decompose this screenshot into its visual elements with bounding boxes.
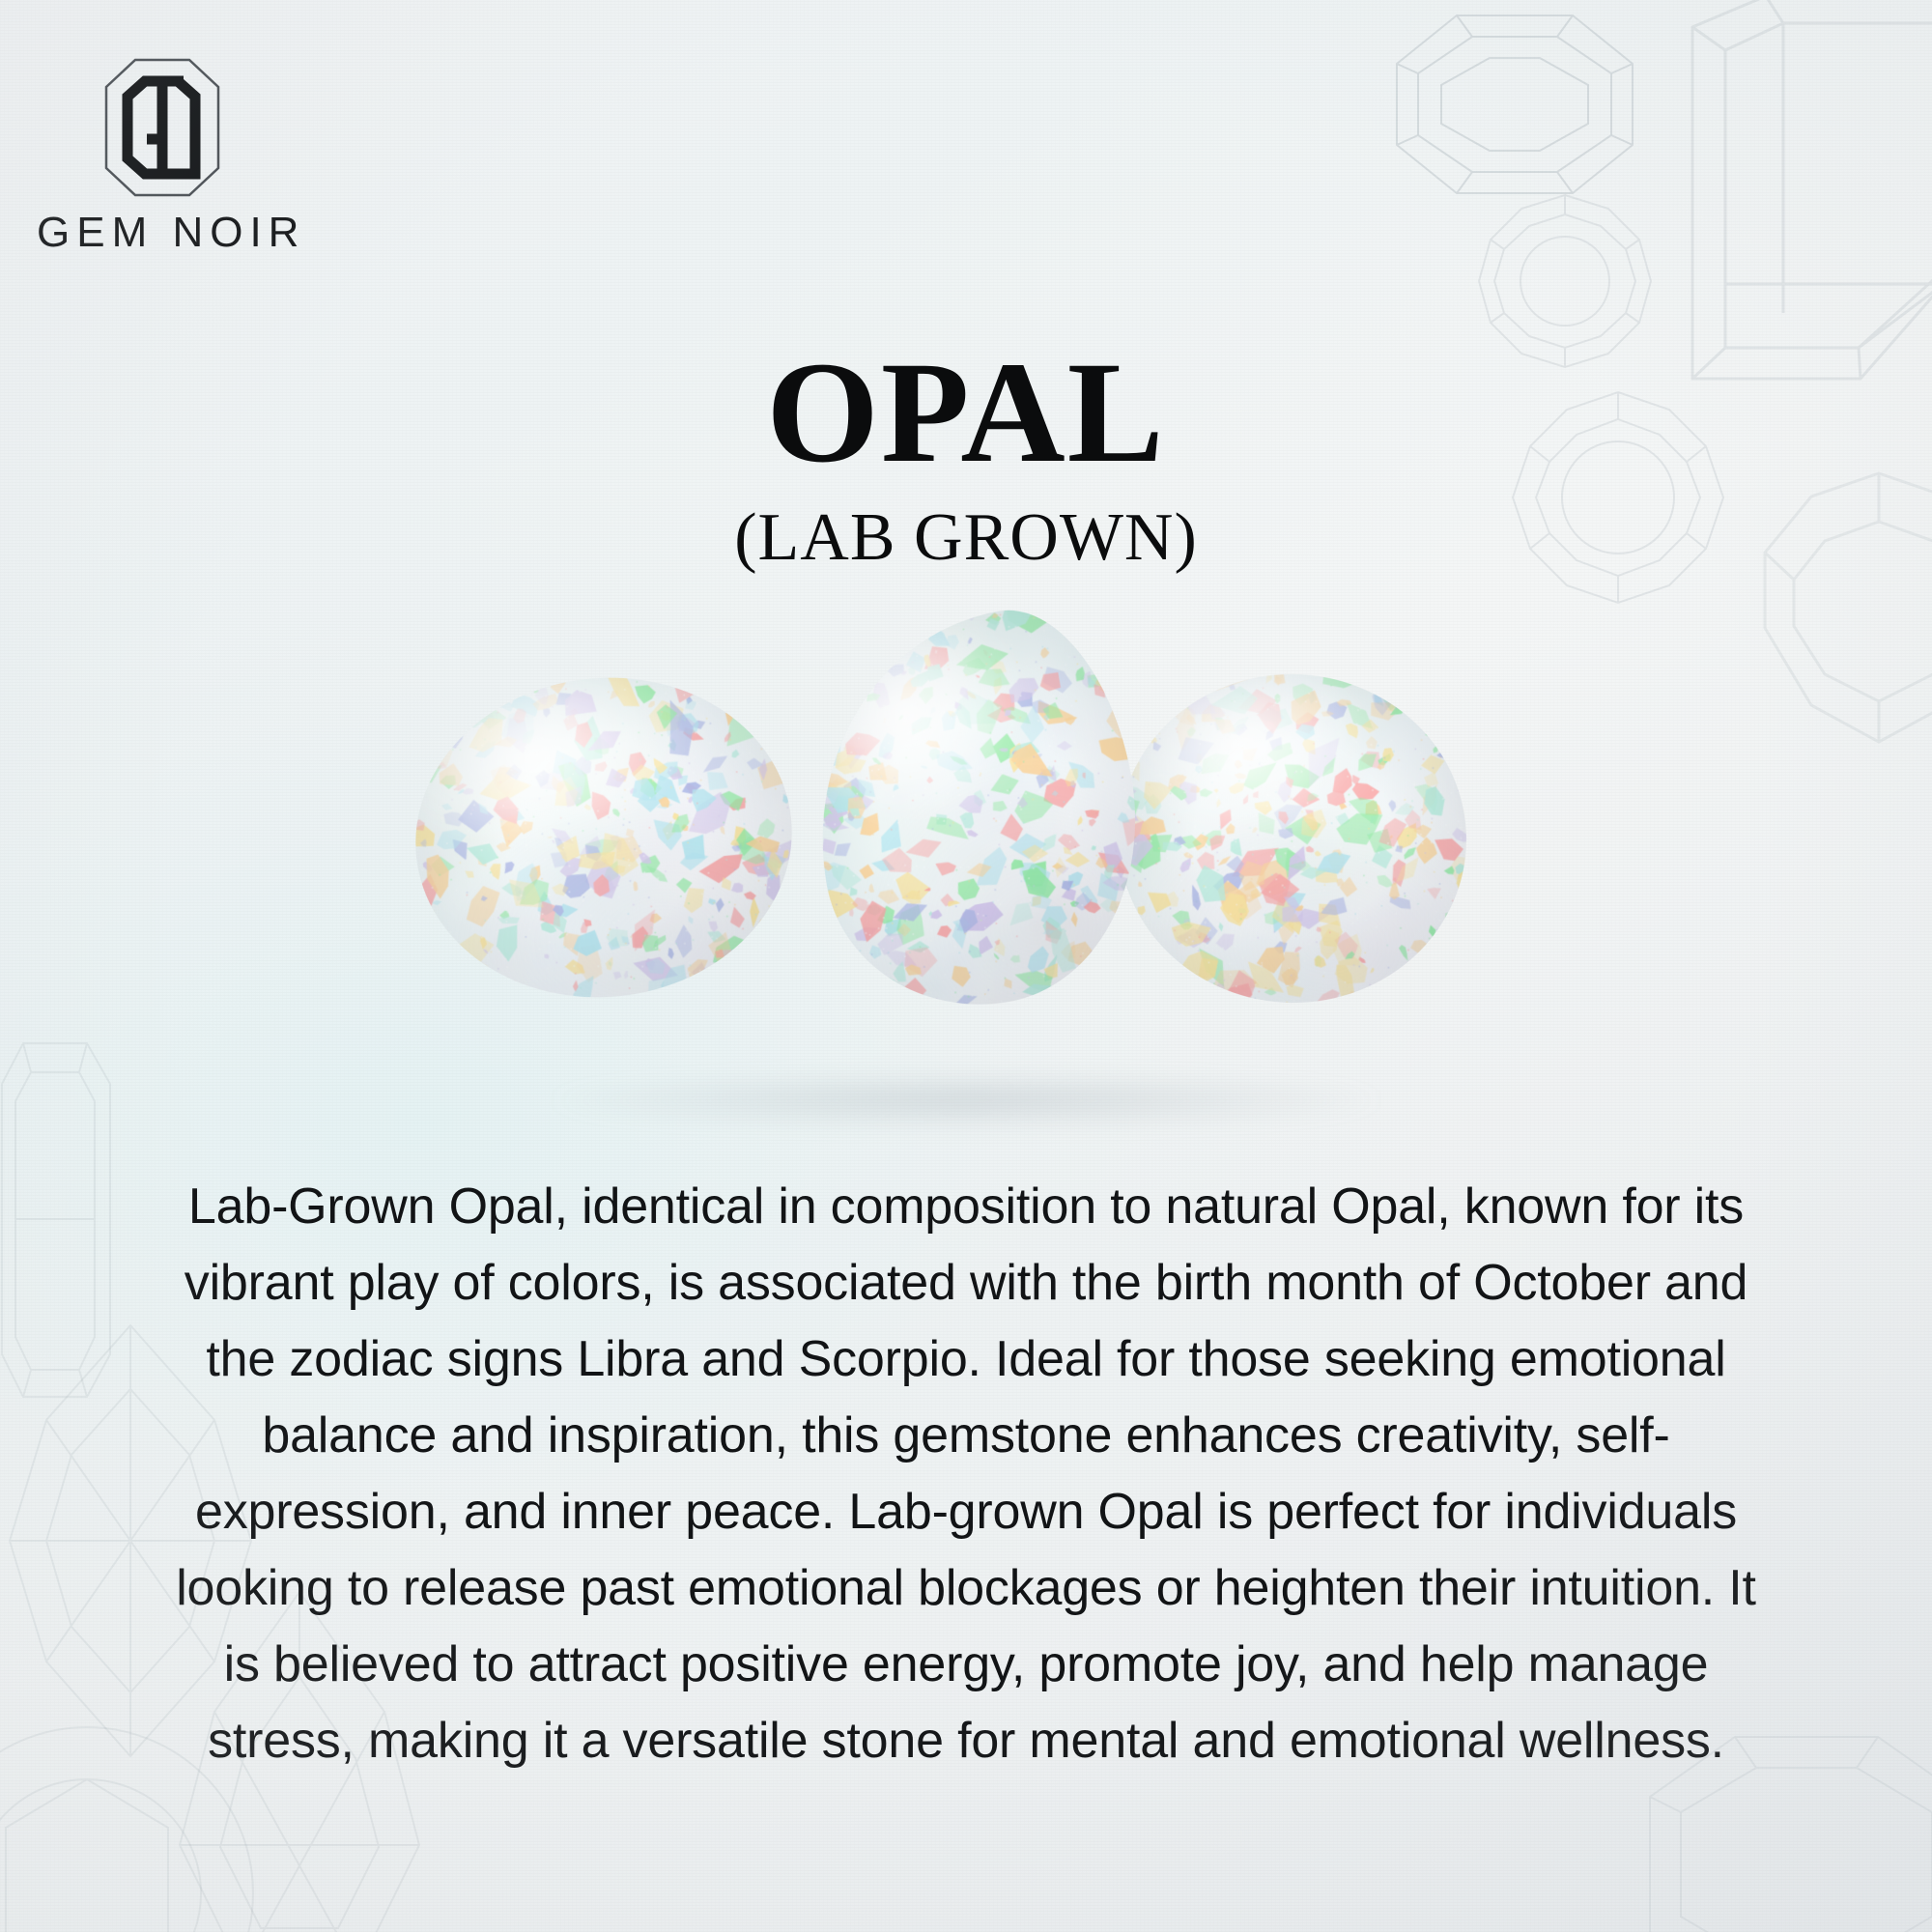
gem-noir-monogram-icon: [102, 56, 222, 199]
brand-logo[interactable]: GEM NOIR: [37, 56, 288, 257]
page-title: OPAL (LAB GROWN): [0, 340, 1932, 572]
gem-name-heading: OPAL: [0, 340, 1932, 485]
gem-origin-subheading: (LAB GROWN): [0, 504, 1932, 572]
round-opal-right: [1110, 666, 1474, 1011]
brand-wordmark: GEM NOIR: [37, 209, 288, 257]
product-image: [0, 618, 1932, 1130]
oval-opal-left: [400, 660, 808, 1016]
poster-canvas: GEM NOIR OPAL (LAB GROWN) Lab-Grown Opal…: [0, 0, 1932, 1932]
octagon-gem-outline-icon: [1389, 8, 1640, 201]
pear-opal-center: [785, 593, 1166, 1029]
gem-description: Lab-Grown Opal, identical in composition…: [164, 1169, 1768, 1779]
gem-drop-shadow: [551, 1072, 1381, 1128]
